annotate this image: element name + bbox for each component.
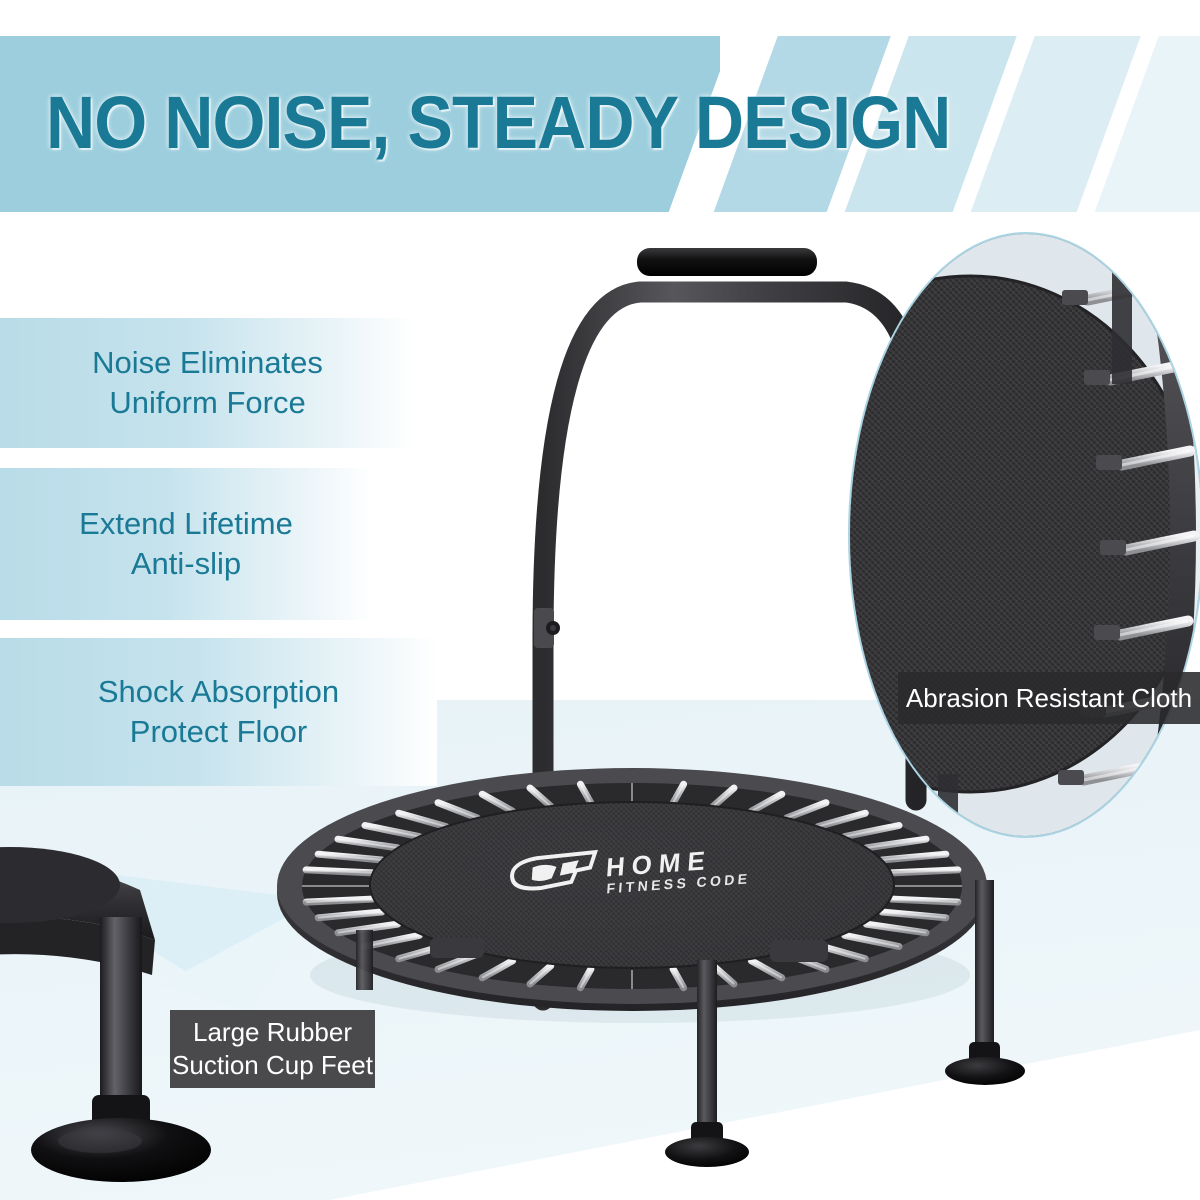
callout-suction-cup: Large Rubber Suction Cup Feet (170, 1010, 375, 1088)
product-feature-graphic: NO NOISE, STEADY DESIGN Noise Eliminates… (0, 0, 1200, 1200)
inset-abrasion-artwork (850, 234, 1200, 836)
height-adjust-knob (534, 608, 560, 648)
inset-abrasion-cloth (848, 232, 1200, 838)
callout-abrasion-label: Abrasion Resistant Cloth (906, 682, 1192, 715)
callout-suction-label: Large Rubber Suction Cup Feet (172, 1016, 373, 1082)
leg-back-left (356, 930, 373, 990)
callout-abrasion-cloth: Abrasion Resistant Cloth (898, 672, 1200, 724)
